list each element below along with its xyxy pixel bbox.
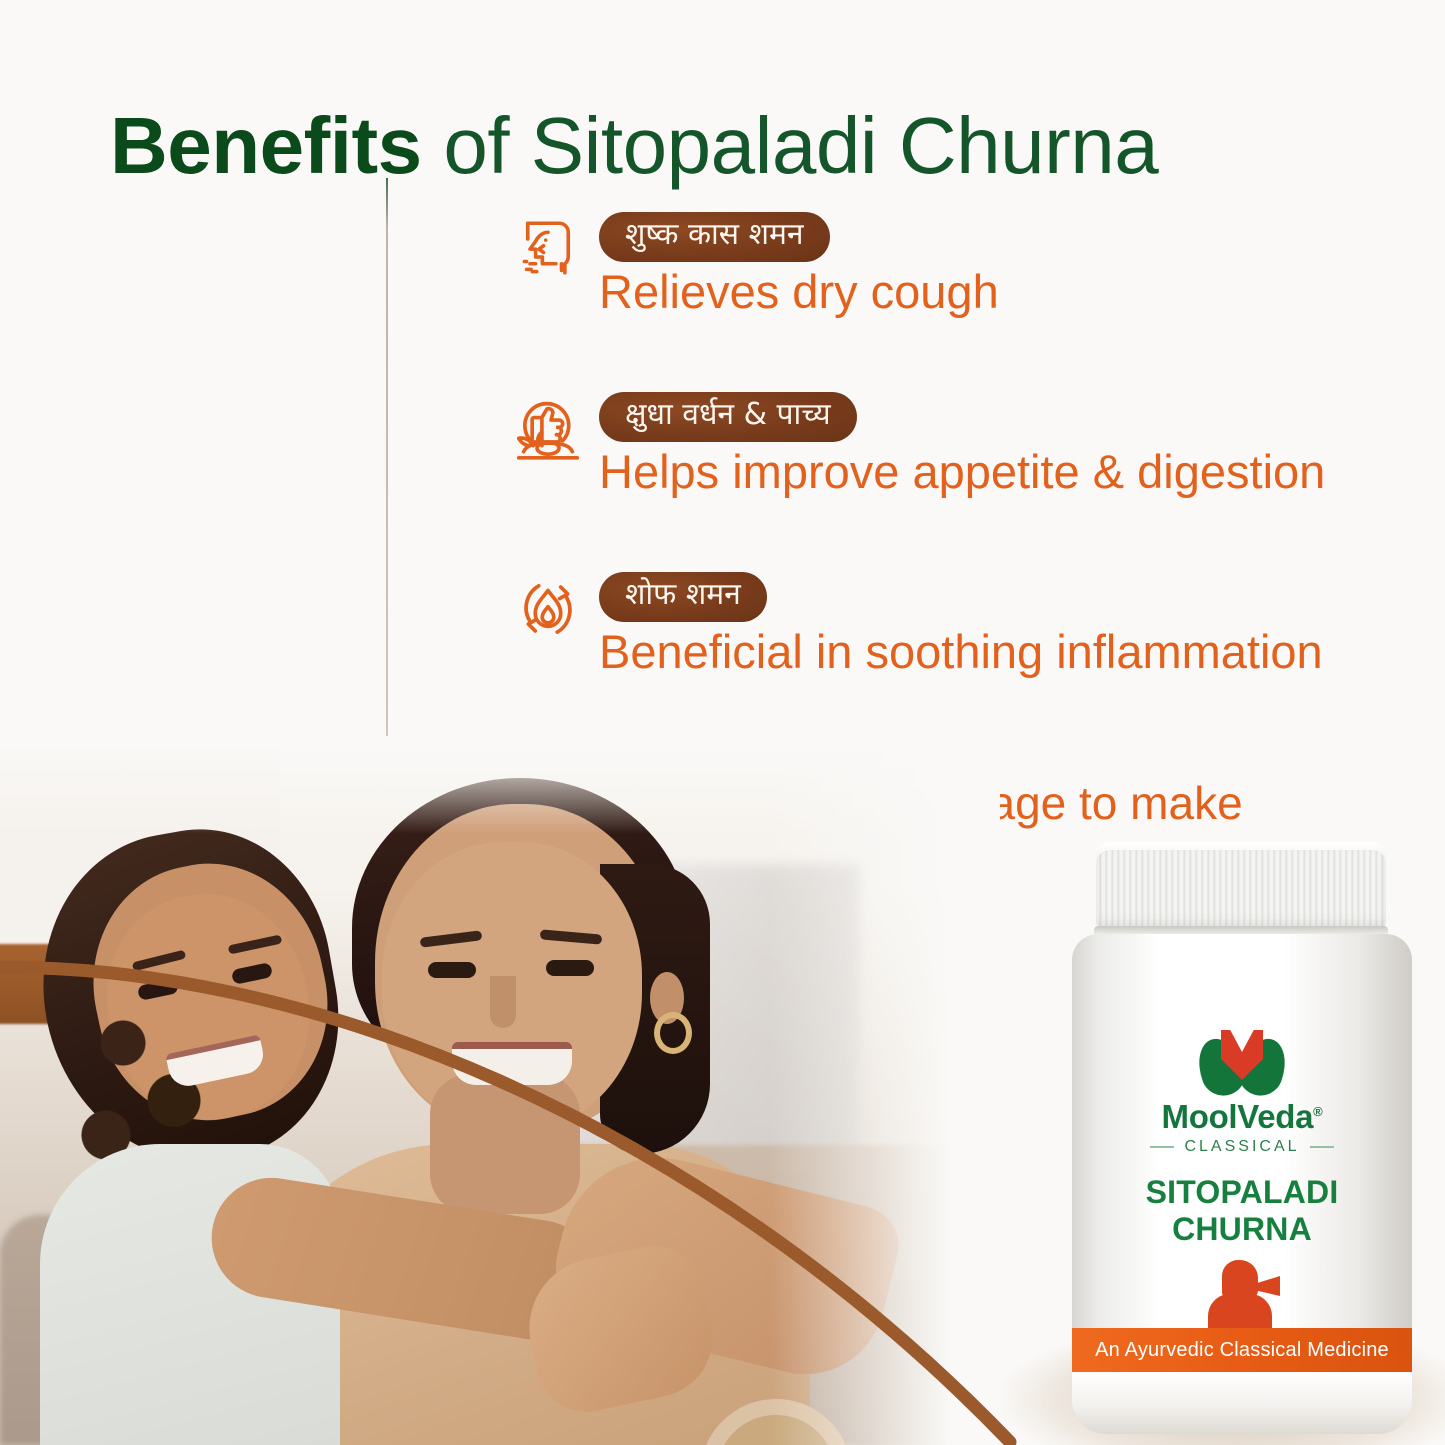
- product-name: SITOPALADI CHURNA: [1072, 1174, 1412, 1248]
- page-title-regular: of Sitopaladi Churna: [422, 101, 1159, 190]
- brand-subtitle: CLASSICAL: [1072, 1138, 1412, 1156]
- thumbs-up-food-plate-icon: [505, 392, 591, 470]
- product-bottle: MoolVeda® CLASSICAL SITOPALADI CHURNA Ef…: [1040, 850, 1445, 1445]
- benefit-item-soothing-inflammation: शोफ शमन Beneficial in soothing inflammat…: [505, 572, 1323, 678]
- benefit-text: Helps improve appetite & digestion: [599, 446, 1325, 499]
- benefit-text: Relieves dry cough: [599, 266, 999, 319]
- infographic-page: Benefits of Sitopaladi Churna शुष्क कास …: [0, 0, 1445, 1445]
- brand-text: MoolVeda: [1162, 1098, 1314, 1135]
- moolveda-lotus-logo: [1199, 1030, 1285, 1096]
- trademark-symbol: ®: [1313, 1104, 1322, 1119]
- bottle-label: MoolVeda® CLASSICAL SITOPALADI CHURNA Ef…: [1072, 1030, 1412, 1370]
- bottle-bottom-gloss: [1072, 1372, 1412, 1434]
- benefit-hindi-pill: शुष्क कास शमन: [599, 212, 830, 262]
- benefit-item-relieves-dry-cough: शुष्क कास शमन Relieves dry cough: [505, 212, 999, 318]
- benefit-text: Beneficial in soothing inflammation: [599, 626, 1323, 679]
- benefit-body: क्षुधा वर्धन & पाच्य Helps improve appet…: [591, 392, 1325, 498]
- vertical-divider: [386, 178, 388, 736]
- coughing-head-icon: [505, 212, 591, 284]
- page-title-bold: Benefits: [110, 101, 422, 190]
- benefit-body: शुष्क कास शमन Relieves dry cough: [591, 212, 999, 318]
- band-text: An Ayurvedic Classical Medicine: [1095, 1339, 1389, 1362]
- brand-name: MoolVeda®: [1072, 1100, 1412, 1133]
- mother-and-daughter-hug-photo: [0, 744, 1000, 1445]
- benefit-hindi-pill: शोफ शमन: [599, 572, 767, 622]
- benefit-body: शोफ शमन Beneficial in soothing inflammat…: [591, 572, 1323, 678]
- page-title: Benefits of Sitopaladi Churna: [110, 106, 1390, 186]
- flame-refresh-icon: [505, 572, 591, 646]
- benefit-item-improve-appetite: क्षुधा वर्धन & पाच्य Helps improve appet…: [505, 392, 1325, 498]
- bottle-cap: [1096, 850, 1386, 928]
- bottle-bottom-band: An Ayurvedic Classical Medicine: [1072, 1328, 1412, 1372]
- benefit-hindi-pill: क्षुधा वर्धन & पाच्य: [599, 392, 857, 442]
